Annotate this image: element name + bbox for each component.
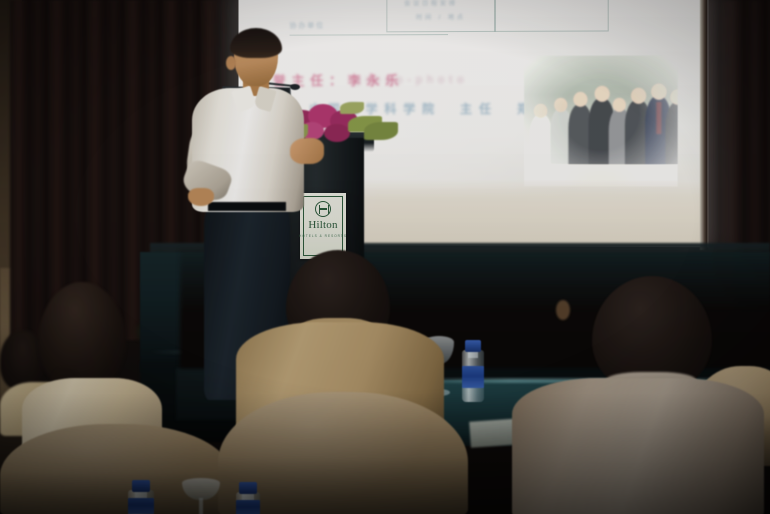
screen-right-bezel (700, 0, 708, 250)
wine-glass-foreground (182, 478, 220, 514)
water-bottle-on-table (462, 340, 484, 402)
speaker-belt (208, 202, 286, 211)
slide-table-cell-2 (494, 0, 609, 32)
speaker-right-hand (290, 138, 324, 164)
water-bottle-foreground-left (128, 480, 154, 514)
slide-table-cell-text-1: 会议日程安排 (404, 0, 458, 7)
slide-title-primary-tail: group-photo (355, 74, 469, 86)
slide-table-cell-text-2: 时间 / 地点 (416, 12, 466, 21)
slide-photo-vignette (524, 55, 678, 186)
attendee-right-man-back-ear (556, 300, 570, 320)
speaker-left-hand (188, 188, 214, 206)
speaker-ear (226, 56, 236, 70)
attendee-right-man-front-torso (512, 378, 764, 514)
conference-photo: 主办单位介绍 协办单位 会议日程安排 时间 / 地点 名誉主任：李永乐 grou… (0, 0, 770, 514)
slide-group-photo (524, 55, 678, 186)
water-bottle-foreground-right (236, 482, 260, 514)
speaker-hair (230, 28, 282, 58)
